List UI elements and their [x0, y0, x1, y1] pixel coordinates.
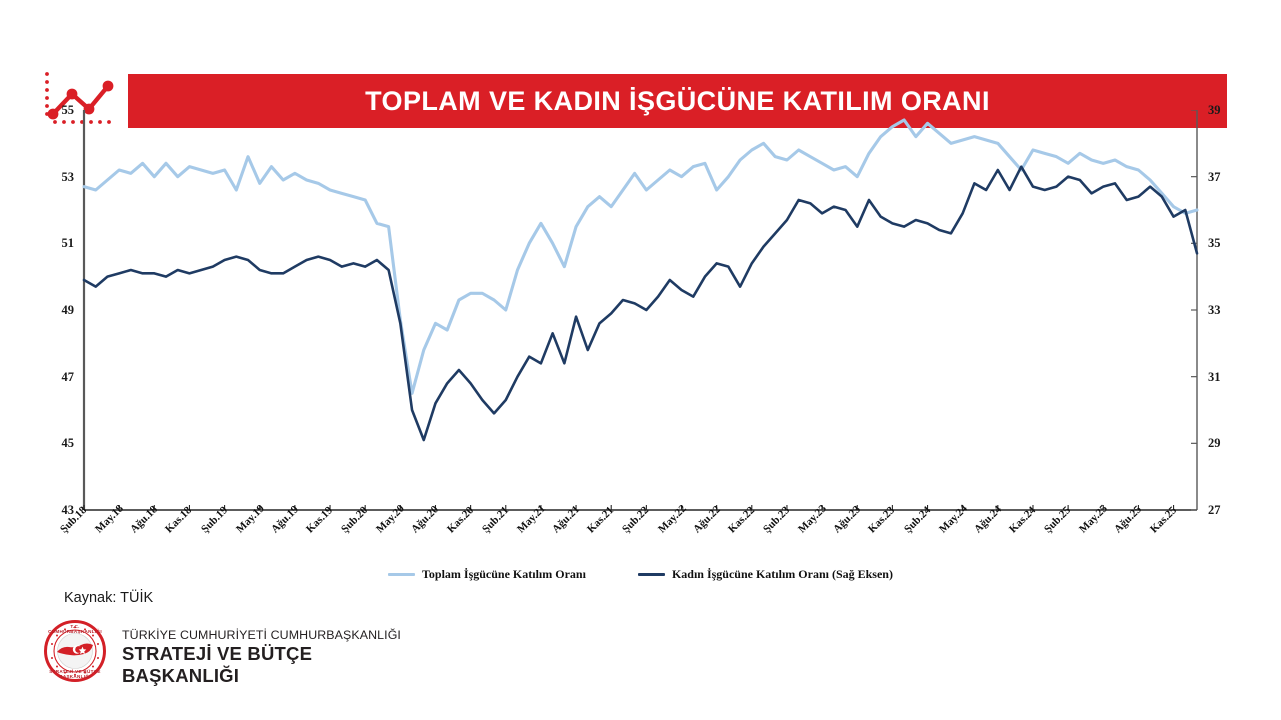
- y-axis-right-tick-label: 33: [1208, 303, 1238, 318]
- y-axis-right-tick-label: 37: [1208, 170, 1238, 185]
- line-chart: [0, 110, 1281, 520]
- series-line-2: [84, 167, 1197, 440]
- y-axis-left-tick-label: 53: [44, 170, 74, 185]
- legend-label: Toplam İşgücüne Katılım Oranı: [422, 567, 586, 582]
- chart-legend: Toplam İşgücüne Katılım OranıKadın İşgüc…: [0, 563, 1281, 585]
- seal-bottom-text: STRATEJİ VE BÜTÇE BAŞKANLIĞI: [44, 669, 106, 679]
- organization-name: TÜRKİYE CUMHURİYETİ CUMHURBAŞKANLIĞI STR…: [122, 628, 404, 687]
- y-axis-right-tick-label: 39: [1208, 103, 1238, 118]
- legend-swatch: [638, 573, 665, 576]
- y-axis-left-tick-label: 47: [44, 370, 74, 385]
- series-line-1: [84, 120, 1197, 393]
- legend-label: Kadın İşgücüne Katılım Oranı (Sağ Eksen): [672, 567, 893, 582]
- seal-text: T.C. CUMHURBAŞKANLIĞI STRATEJİ VE BÜTÇE …: [44, 620, 106, 682]
- y-axis-right-tick-label: 29: [1208, 436, 1238, 451]
- legend-item-1[interactable]: Toplam İşgücüne Katılım Oranı: [388, 567, 586, 582]
- y-axis-left-tick-label: 45: [44, 436, 74, 451]
- header: TOPLAM VE KADIN İŞGÜCÜNE KATILIM ORANI: [0, 32, 1281, 96]
- legend-item-2[interactable]: Kadın İşgücüne Katılım Oranı (Sağ Eksen): [638, 567, 893, 582]
- seal-top-text: T.C. CUMHURBAŞKANLIĞI: [44, 624, 106, 634]
- legend-swatch: [388, 573, 415, 576]
- y-axis-left-tick-label: 55: [44, 103, 74, 118]
- y-axis-right-tick-label: 35: [1208, 236, 1238, 251]
- source-note: Kaynak: TÜİK: [64, 590, 153, 606]
- organization-line-2: STRATEJİ VE BÜTÇE BAŞKANLIĞI: [122, 643, 404, 687]
- organization-logo: T.C. CUMHURBAŞKANLIĞI STRATEJİ VE BÜTÇE …: [44, 620, 404, 686]
- y-axis-right-tick-label: 31: [1208, 370, 1238, 385]
- organization-line-1: TÜRKİYE CUMHURİYETİ CUMHURBAŞKANLIĞI: [122, 628, 404, 642]
- y-axis-left-tick-label: 51: [44, 236, 74, 251]
- y-axis-left-tick-label: 49: [44, 303, 74, 318]
- chart-area: [0, 110, 1281, 520]
